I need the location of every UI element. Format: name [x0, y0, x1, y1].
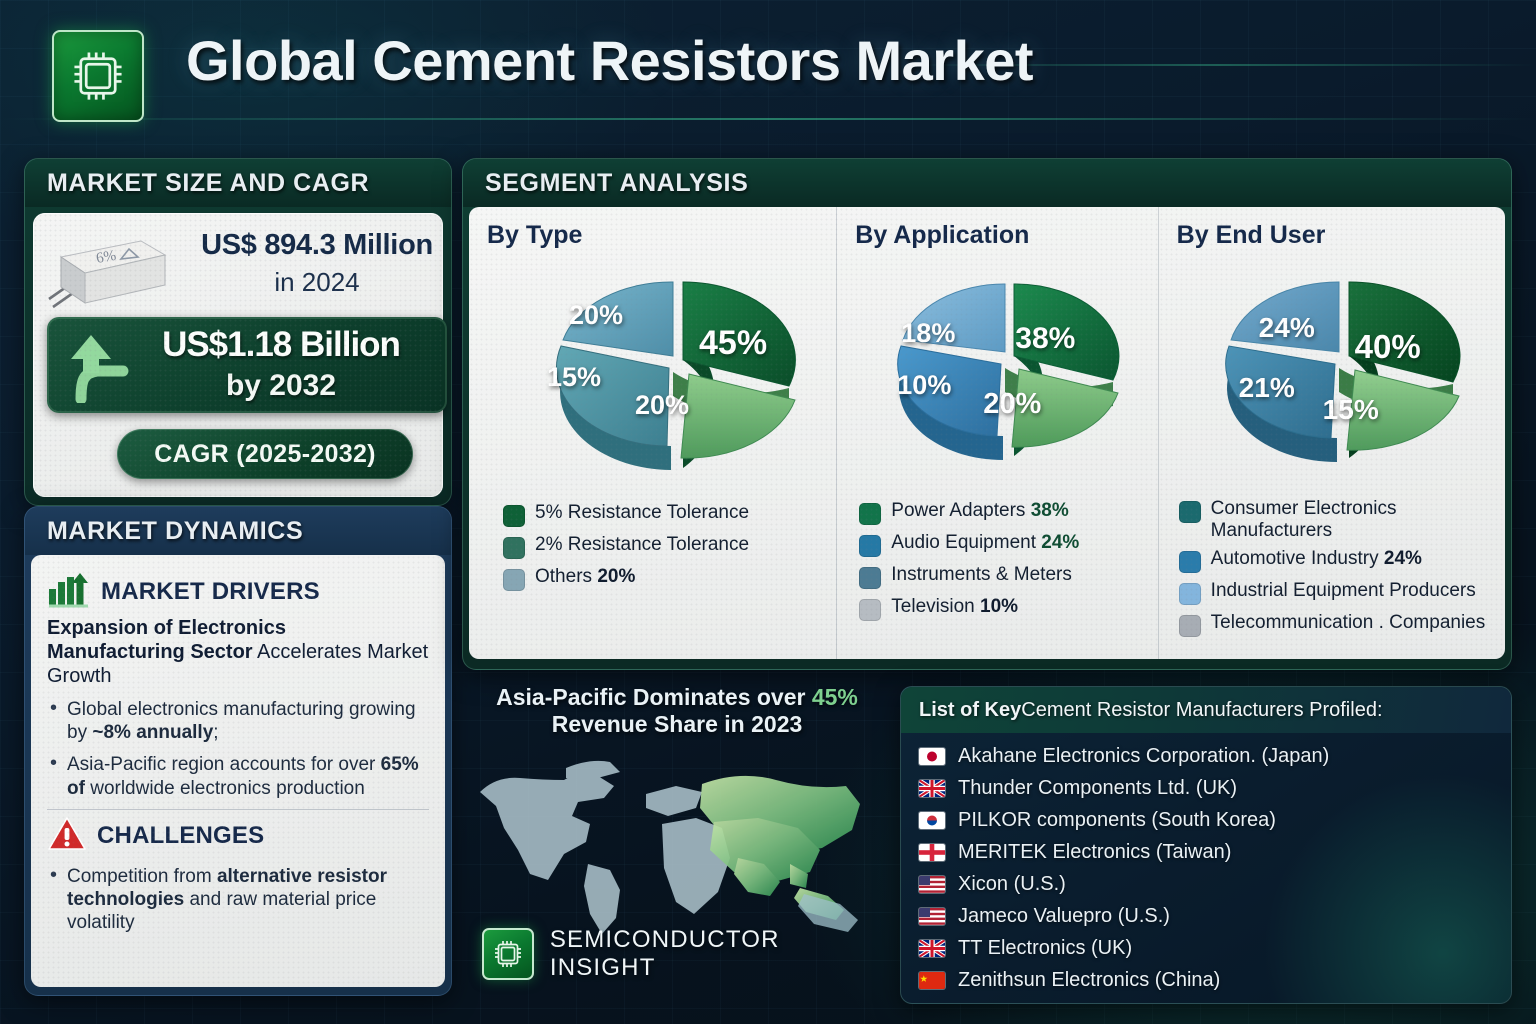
legend-swatch — [503, 537, 525, 559]
bullet-text: Asia-Pacific region accounts for over — [67, 754, 381, 775]
legend-item: Industrial Equipment Producers — [1179, 580, 1491, 605]
market-drivers-header: MARKET DRIVERS — [47, 569, 429, 614]
legend-item: Television 10% — [859, 596, 1143, 621]
legend-swatch — [503, 505, 525, 527]
pie-slice-label: 10% — [897, 370, 951, 401]
brand-lockup: SEMICONDUCTOR INSIGHT — [482, 926, 892, 982]
pie-slice-label: 21% — [1239, 372, 1295, 404]
pie-slice-label: 40% — [1355, 328, 1421, 366]
legend-swatch — [1179, 583, 1201, 605]
legend-swatch — [859, 535, 881, 557]
pie-slice-label: 18% — [901, 318, 955, 349]
market-value-2024-year: in 2024 — [181, 267, 452, 298]
market-drivers-lead: Expansion of Electronics Manufacturing S… — [47, 616, 429, 688]
chart-title: By End User — [1177, 221, 1491, 250]
manufacturers-heading-rest: Cement Resistor Manufacturers Profiled: — [1021, 699, 1382, 722]
market-drivers-lead-bold: Expansion of Electronics Manufacturing S… — [47, 617, 286, 663]
legend-label: 2% Resistance Tolerance — [535, 534, 749, 556]
legend-item: Power Adapters 38% — [859, 500, 1143, 525]
manufacturer-name: Jameco Valuepro (U.S.) — [958, 905, 1170, 928]
list-item: Asia-Pacific region accounts for over 65… — [47, 753, 429, 799]
flag-kr-icon — [919, 812, 945, 829]
market-dynamics-panel-title: MARKET DYNAMICS — [25, 507, 451, 555]
page-title: Global Cement Resistors Market — [186, 28, 1033, 93]
pie-slice-label: 20% — [635, 390, 689, 421]
manufacturer-name: Thunder Components Ltd. (UK) — [958, 777, 1237, 800]
segment-analysis-card: SEGMENT ANALYSIS By Type — [462, 158, 1512, 670]
map-title-part1: Asia-Pacific Dominates over — [496, 684, 812, 710]
legend-label: 5% Resistance Tolerance — [535, 502, 749, 524]
cagr-badge: CAGR (2025-2032) — [117, 429, 413, 479]
flag-jp-icon — [919, 748, 945, 765]
flag-tw-icon — [919, 844, 945, 861]
legend-item: 5% Resistance Tolerance — [503, 502, 822, 527]
segment-analysis-body: By Type — [469, 207, 1505, 659]
list-item: Xicon (U.S.) — [919, 873, 1493, 896]
legend-item: Audio Equipment 24% — [859, 532, 1143, 557]
market-size-card: MARKET SIZE AND CAGR 6% US$ 894.3 Millio… — [24, 158, 452, 506]
pie-chart-by-type: 45% 20% 15% 20% — [487, 252, 822, 496]
legend-by-type: 5% Resistance Tolerance 2% Resistance To… — [487, 502, 822, 591]
pie-slice-label: 15% — [1323, 394, 1379, 426]
legend-by-end-user: Consumer Electronics Manufacturers Autom… — [1177, 498, 1491, 637]
svg-text:6%: 6% — [95, 248, 117, 267]
market-dynamics-card: MARKET DYNAMICS MARKET DRIVERS Expansion… — [24, 506, 452, 996]
pie-chart-by-application: 38% 20% 10% 18% — [855, 252, 1143, 494]
manufacturer-name: Xicon (U.S.) — [958, 873, 1066, 896]
market-drivers-bullets: Global electronics manufacturing growing… — [47, 698, 429, 800]
market-size-body: 6% US$ 894.3 Million in 2024 US$1.18 Bil… — [33, 213, 443, 497]
pie-chart-by-end-user: 40% 15% 21% 24% — [1177, 252, 1491, 492]
list-item: TT Electronics (UK) — [919, 937, 1493, 960]
manufacturers-heading-bold: List of Key — [919, 699, 1021, 722]
legend-item: Others 20% — [503, 566, 822, 591]
flag-uk-icon — [919, 940, 945, 957]
legend-label: Television 10% — [891, 596, 1018, 618]
bullet-post: worldwide electronics production — [85, 778, 365, 799]
pie-slice-label: 20% — [569, 300, 623, 331]
bullet-post: ; — [213, 722, 218, 743]
list-item: Thunder Components Ltd. (UK) — [919, 777, 1493, 800]
map-title: Asia-Pacific Dominates over 45% Revenue … — [462, 684, 892, 738]
challenges-header: CHALLENGES — [47, 816, 429, 857]
legend-swatch — [1179, 551, 1201, 573]
market-dynamics-body: MARKET DRIVERS Expansion of Electronics … — [31, 555, 445, 987]
legend-label: Automotive Industry 24% — [1211, 548, 1422, 570]
legend-label: Power Adapters 38% — [891, 500, 1068, 522]
market-value-2024: US$ 894.3 Million — [181, 229, 452, 262]
legend-label: Industrial Equipment Producers — [1211, 580, 1476, 602]
legend-swatch — [503, 569, 525, 591]
challenges-heading: CHALLENGES — [97, 822, 264, 850]
legend-label: Others 20% — [535, 566, 635, 588]
flag-uk-icon — [919, 780, 945, 797]
page-header: Global Cement Resistors Market — [0, 0, 1536, 150]
list-item: Competition from alternative resistor te… — [47, 865, 429, 935]
legend-by-application: Power Adapters 38% Audio Equipment 24% I… — [855, 500, 1143, 621]
legend-swatch — [859, 599, 881, 621]
forecast-year: by 2032 — [123, 369, 439, 403]
infographic-canvas: Global Cement Resistors Market MARKET SI… — [0, 0, 1536, 1024]
manufacturer-name: PILKOR components (South Korea) — [958, 809, 1276, 832]
list-item: Akahane Electronics Corporation. (Japan) — [919, 745, 1493, 768]
flag-us-icon — [919, 908, 945, 925]
map-title-part2: Revenue Share in 2023 — [552, 711, 803, 737]
bullet-bold: ~8% annually — [92, 722, 213, 743]
warning-triangle-icon — [47, 816, 87, 857]
legend-item: Instruments & Meters — [859, 564, 1143, 589]
cement-resistor-image: 6% — [45, 229, 175, 313]
world-map-image — [470, 738, 890, 938]
list-item: Global electronics manufacturing growing… — [47, 698, 429, 744]
legend-label: Audio Equipment 24% — [891, 532, 1079, 554]
bullet-text: Competition from — [67, 866, 217, 887]
pie-slice-label: 24% — [1259, 312, 1315, 344]
manufacturer-name: Zenithsun Electronics (China) — [958, 969, 1220, 992]
legend-swatch — [859, 503, 881, 525]
divider — [47, 809, 429, 810]
legend-item: Automotive Industry 24% — [1179, 548, 1491, 573]
list-item: PILKOR components (South Korea) — [919, 809, 1493, 832]
legend-label: Telecommunication . Companies — [1211, 612, 1486, 634]
map-title-highlight: 45% — [812, 684, 858, 710]
manufacturer-name: MERITEK Electronics (Taiwan) — [958, 841, 1231, 864]
legend-label: Consumer Electronics Manufacturers — [1211, 498, 1491, 541]
pie-slice-label: 15% — [547, 362, 601, 393]
bar-chart-growth-icon — [47, 569, 91, 614]
manufacturers-heading: List of Key Cement Resistor Manufacturer… — [901, 687, 1511, 733]
legend-swatch — [1179, 501, 1201, 523]
manufacturers-list: Akahane Electronics Corporation. (Japan)… — [901, 733, 1511, 992]
forecast-box: US$1.18 Billion by 2032 — [47, 317, 447, 413]
pie-slice-label: 45% — [699, 324, 767, 363]
legend-item: Consumer Electronics Manufacturers — [1179, 498, 1491, 541]
brand-name: SEMICONDUCTOR INSIGHT — [550, 926, 892, 982]
segment-analysis-panel-title: SEGMENT ANALYSIS — [463, 159, 1511, 207]
flag-cn-icon — [919, 972, 945, 989]
manufacturer-name: Akahane Electronics Corporation. (Japan) — [958, 745, 1329, 768]
pie-slice-label: 38% — [1015, 322, 1075, 356]
legend-swatch — [859, 567, 881, 589]
list-item: Jameco Valuepro (U.S.) — [919, 905, 1493, 928]
manufacturer-name: TT Electronics (UK) — [958, 937, 1132, 960]
challenges-bullets: Competition from alternative resistor te… — [47, 865, 429, 935]
flag-us-icon — [919, 876, 945, 893]
market-size-panel-title: MARKET SIZE AND CAGR — [25, 159, 451, 207]
chart-title: By Type — [487, 221, 822, 250]
pie-slice-label: 20% — [983, 388, 1041, 421]
list-item: Zenithsun Electronics (China) — [919, 969, 1493, 992]
chart-by-end-user: By End User — [1158, 207, 1505, 659]
legend-label: Instruments & Meters — [891, 564, 1072, 586]
market-drivers-heading: MARKET DRIVERS — [101, 578, 320, 606]
chip-icon — [482, 928, 534, 980]
legend-swatch — [1179, 615, 1201, 637]
manufacturers-card: List of Key Cement Resistor Manufacturer… — [900, 686, 1512, 1004]
forecast-value: US$1.18 Billion — [123, 325, 439, 365]
chip-icon — [52, 30, 144, 122]
legend-item: Telecommunication . Companies — [1179, 612, 1491, 637]
chart-by-type: By Type — [469, 207, 836, 659]
list-item: MERITEK Electronics (Taiwan) — [919, 841, 1493, 864]
regional-map-panel: Asia-Pacific Dominates over 45% Revenue … — [462, 676, 892, 996]
chart-title: By Application — [855, 221, 1143, 250]
chart-by-application: By Application — [836, 207, 1157, 659]
legend-item: 2% Resistance Tolerance — [503, 534, 822, 559]
